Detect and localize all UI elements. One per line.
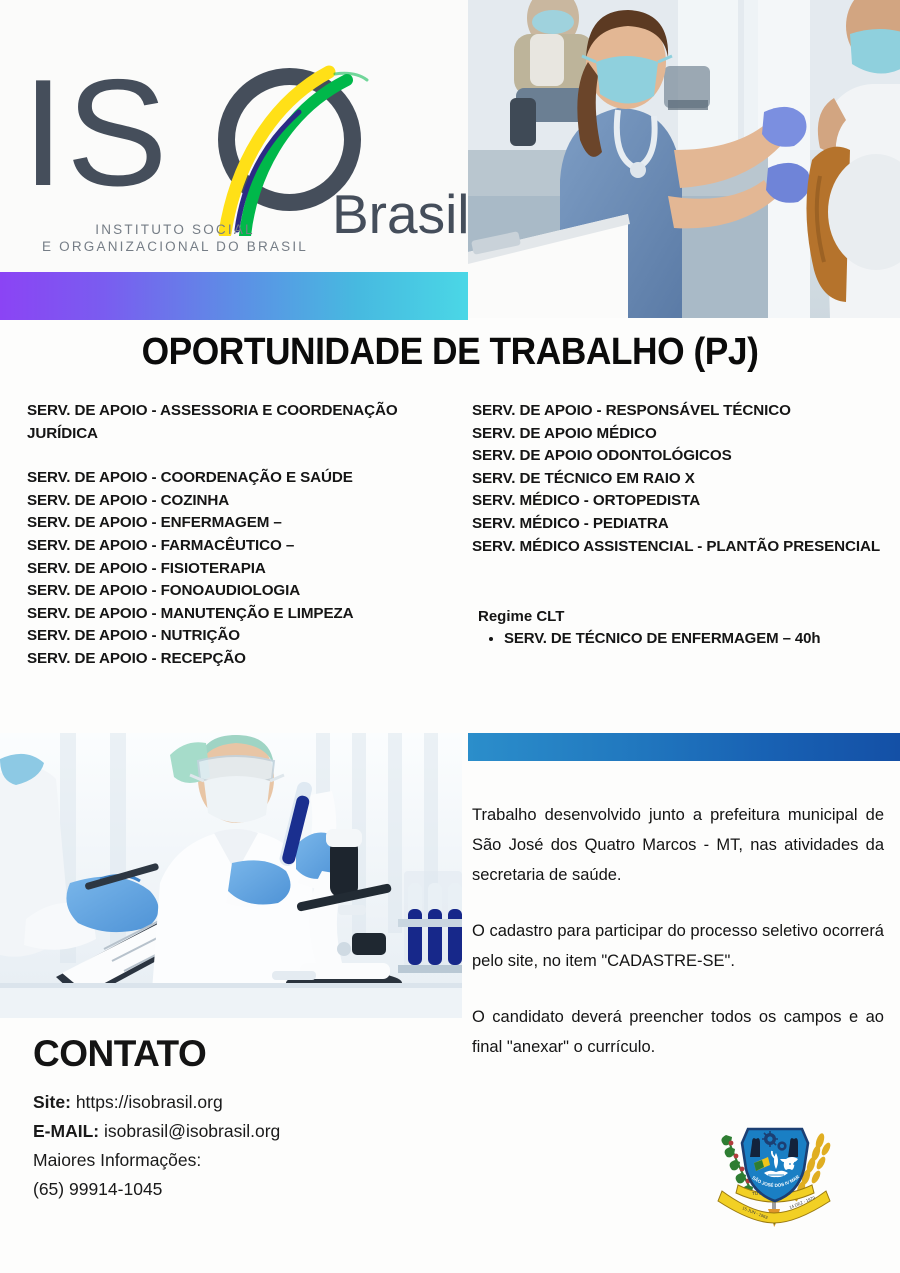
contact-email-value[interactable]: isobrasil@isobrasil.org (104, 1121, 280, 1141)
description-paragraph-2: O cadastro para participar do processo s… (472, 916, 884, 976)
contact-email-row: E-MAIL: isobrasil@isobrasil.org (33, 1117, 453, 1146)
logo-area: IS Brasil INSTITUTO SOCIAL E ORGANIZACIO… (0, 0, 468, 272)
job-item: SERV. DE APOIO - MANUTENÇÃO E LIMPEZA (27, 603, 447, 626)
description-text: Trabalho desenvolvido junto a prefeitura… (472, 800, 884, 1062)
clt-regime-title: Regime CLT (478, 606, 888, 628)
job-item: SERV. MÉDICO ASSISTENCIAL - PLANTÃO PRES… (472, 536, 887, 559)
job-item: SERV. DE APOIO - FISIOTERAPIA (27, 558, 447, 581)
contact-info-label: Maiores Informações: (33, 1146, 453, 1175)
clt-job-item: SERV. DE TÉCNICO DE ENFERMAGEM – 40h (504, 628, 888, 650)
job-item: SERV. DE APOIO - COORDENAÇÃO E SAÚDE (27, 467, 447, 490)
job-item: SERV. MÉDICO - ORTOPEDISTA (472, 490, 887, 513)
logo-institute-tagline: INSTITUTO SOCIAL E ORGANIZACIONAL DO BRA… (30, 221, 320, 255)
clt-job-list: SERV. DE TÉCNICO DE ENFERMAGEM – 40h (478, 628, 888, 650)
job-item: SERV. DE APOIO - RECEPÇÃO (27, 648, 447, 671)
job-column-left: SERV. DE APOIO - ASSESSORIA E COORDENAÇÃ… (27, 400, 447, 671)
lab-photo-scientists (0, 733, 462, 1018)
job-item: SERV. DE APOIO - ENFERMAGEM – (27, 512, 447, 535)
job-item: SERV. DE APOIO ODONTOLÓGICOS (472, 445, 887, 468)
page-title: OPORTUNIDADE DE TRABALHO (PJ) (32, 331, 869, 374)
institute-line-1: INSTITUTO SOCIAL (30, 221, 320, 238)
job-item: SERV. MÉDICO - PEDIATRA (472, 513, 887, 536)
logo-letter-i: I (22, 48, 66, 218)
iso-brasil-logo: IS Brasil INSTITUTO SOCIAL E ORGANIZACIO… (22, 58, 462, 268)
job-column-right: SERV. DE APOIO - RESPONSÁVEL TÉCNICO SER… (472, 400, 887, 558)
job-openings-section: SERV. DE APOIO - ASSESSORIA E COORDENAÇÃ… (0, 400, 900, 700)
description-accent-bar (468, 733, 900, 761)
contact-phone[interactable]: (65) 99914-1045 (33, 1175, 453, 1204)
header: IS Brasil INSTITUTO SOCIAL E ORGANIZACIO… (0, 0, 900, 320)
description-paragraph-3: O candidato deverá preencher todos os ca… (472, 1002, 884, 1062)
institute-line-2: E ORGANIZACIONAL DO BRASIL (30, 238, 320, 255)
job-item: SERV. DE APOIO - RESPONSÁVEL TÉCNICO (472, 400, 887, 423)
poster-page: IS Brasil INSTITUTO SOCIAL E ORGANIZACIO… (0, 0, 900, 1273)
logo-iso-letters: IS (22, 58, 170, 208)
contact-section: CONTATO Site: https://isobrasil.org E-MA… (33, 1032, 453, 1204)
municipal-coat-of-arms: 15 JUN - 1963 14 DEZ - 1979 TU FAZ O LUG… (716, 1113, 834, 1229)
contact-site-row: Site: https://isobrasil.org (33, 1088, 453, 1117)
job-item: SERV. DE APOIO - FARMACÊUTICO – (27, 535, 447, 558)
header-gradient-bar (0, 272, 468, 320)
contact-site-value[interactable]: https://isobrasil.org (76, 1092, 223, 1112)
job-item: SERV. DE APOIO - COZINHA (27, 490, 447, 513)
logo-brasil-word: Brasil (332, 182, 470, 246)
description-paragraph-1: Trabalho desenvolvido junto a prefeitura… (472, 800, 884, 890)
job-item: SERV. DE APOIO - NUTRIÇÃO (27, 625, 447, 648)
job-item: SERV. DE APOIO MÉDICO (472, 423, 887, 446)
contact-title: CONTATO (33, 1032, 453, 1076)
spacer (27, 445, 447, 467)
job-item: SERV. DE APOIO - ASSESSORIA E COORDENAÇÃ… (27, 400, 447, 445)
job-item: SERV. DE TÉCNICO EM RAIO X (472, 468, 887, 491)
clt-regime-block: Regime CLT SERV. DE TÉCNICO DE ENFERMAGE… (478, 606, 888, 650)
job-item: SERV. DE APOIO - FONOAUDIOLOGIA (27, 580, 447, 603)
header-photo-nurse-patient (468, 0, 900, 318)
logo-letter-s: S (66, 48, 169, 218)
contact-email-label: E-MAIL: (33, 1121, 99, 1141)
contact-site-label: Site: (33, 1092, 71, 1112)
